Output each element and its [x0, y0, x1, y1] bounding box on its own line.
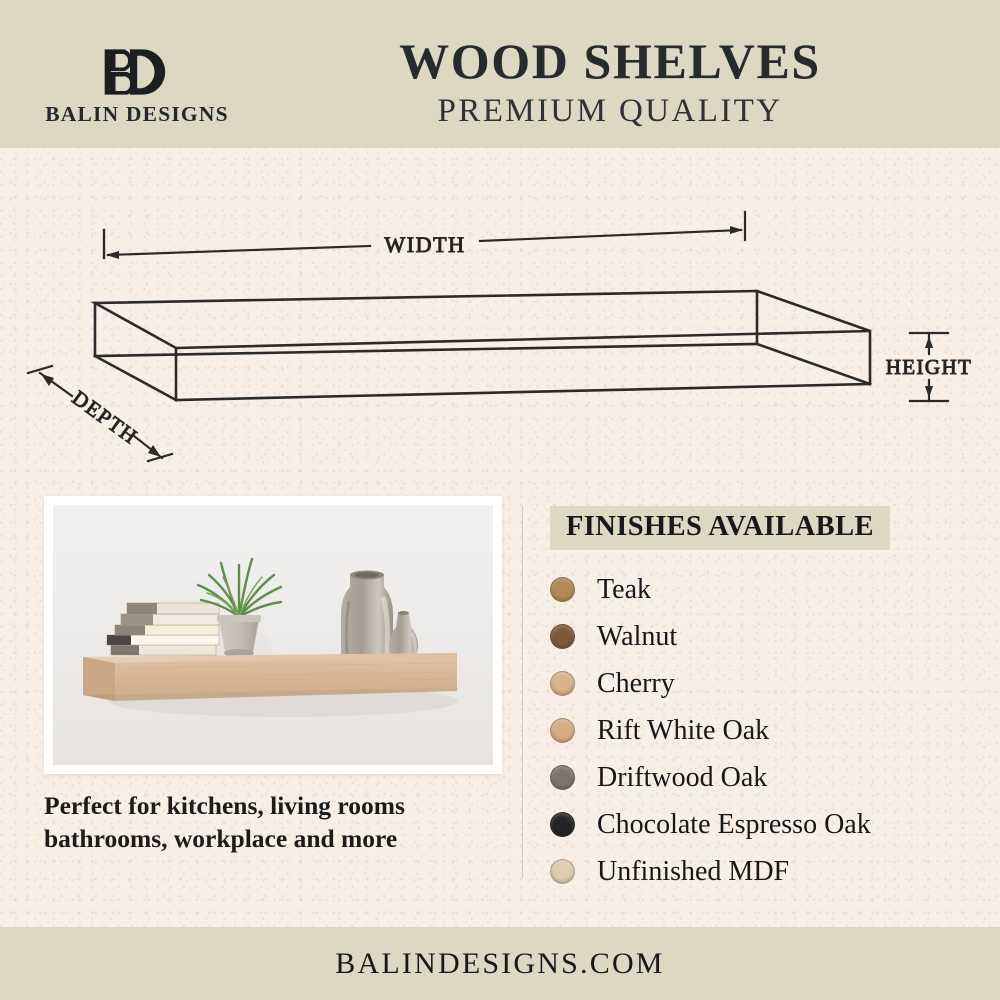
finish-item-chocolate-espresso-oak[interactable]: Chocolate Espresso Oak: [550, 801, 970, 848]
swatch-icon: [550, 765, 575, 790]
product-photo: [53, 505, 493, 765]
website-url[interactable]: BALINDESIGNS.COM: [335, 947, 664, 981]
finish-label: Driftwood Oak: [597, 764, 767, 792]
height-label: HEIGHT: [886, 355, 973, 379]
swatch-icon: [550, 671, 575, 696]
dimension-diagram: WIDTH: [0, 168, 1000, 488]
finish-label: Unfinished MDF: [597, 858, 789, 886]
header-band: BALIN DESIGNS WOOD SHELVES PREMIUM QUALI…: [0, 0, 1000, 148]
caption-line-2: bathrooms, workplace and more: [44, 823, 514, 856]
brand-wordmark: BALIN DESIGNS: [32, 102, 242, 127]
depth-label: DEPTH: [68, 386, 143, 450]
finish-item-walnut[interactable]: Walnut: [550, 613, 970, 660]
product-photo-card[interactable]: [44, 496, 502, 774]
finishes-title: FINISHES AVAILABLE: [566, 511, 874, 543]
bd-monogram-icon: [83, 44, 191, 100]
brand-logo[interactable]: BALIN DESIGNS: [32, 44, 242, 127]
shelf-box-wireframe: [95, 291, 870, 400]
caption-line-1: Perfect for kitchens, living rooms: [44, 790, 514, 823]
finishes-panel: FINISHES AVAILABLE Teak Walnut Cherry Ri…: [550, 506, 970, 911]
shelf-wireframe-svg: WIDTH: [0, 168, 1000, 488]
finish-item-driftwood-oak[interactable]: Driftwood Oak: [550, 754, 970, 801]
footer-band: BALINDESIGNS.COM: [0, 927, 1000, 1000]
finish-list: Teak Walnut Cherry Rift White Oak Driftw…: [550, 566, 970, 895]
swatch-icon: [550, 859, 575, 884]
finish-item-cherry[interactable]: Cherry: [550, 660, 970, 707]
swatch-icon: [550, 718, 575, 743]
photo-caption: Perfect for kitchens, living rooms bathr…: [44, 790, 514, 855]
finish-label: Walnut: [597, 623, 677, 651]
column-divider: [522, 506, 523, 878]
finish-item-teak[interactable]: Teak: [550, 566, 970, 613]
finish-label: Cherry: [597, 670, 675, 698]
shelf-scene-illustration: [53, 505, 493, 765]
poster-canvas: BALIN DESIGNS WOOD SHELVES PREMIUM QUALI…: [0, 0, 1000, 1000]
swatch-icon: [550, 812, 575, 837]
swatch-icon: [550, 624, 575, 649]
finish-item-unfinished-mdf[interactable]: Unfinished MDF: [550, 848, 970, 895]
finish-label: Rift White Oak: [597, 717, 769, 745]
page-subtitle: PREMIUM QUALITY: [250, 93, 970, 130]
swatch-icon: [550, 577, 575, 602]
title-block: WOOD SHELVES PREMIUM QUALITY: [250, 36, 970, 130]
finishes-title-band: FINISHES AVAILABLE: [550, 506, 890, 550]
finish-label: Chocolate Espresso Oak: [597, 811, 871, 839]
finish-label: Teak: [597, 576, 651, 604]
width-label: WIDTH: [384, 232, 465, 257]
page-title: WOOD SHELVES: [250, 36, 970, 87]
finish-item-rift-white-oak[interactable]: Rift White Oak: [550, 707, 970, 754]
